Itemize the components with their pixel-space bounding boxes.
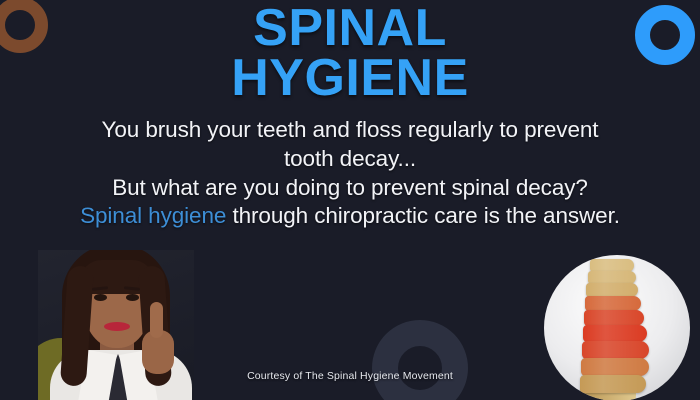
vertebra-segment (584, 310, 644, 326)
body-line-3: But what are you doing to prevent spinal… (18, 174, 682, 203)
spinal-hygiene-poster: SPINAL HYGIENE You brush your teeth and … (0, 0, 700, 400)
vertebra-segment (583, 325, 647, 342)
vertebra-segment (582, 341, 649, 359)
eye-left (94, 294, 107, 301)
body-accent-phrase: Spinal hygiene (80, 203, 226, 228)
body-line-1: You brush your teeth and floss regularly… (18, 116, 682, 145)
pointing-finger-shape (150, 302, 163, 338)
lips-shape (104, 322, 130, 331)
eye-right (126, 294, 139, 301)
poster-title: SPINAL HYGIENE (0, 4, 700, 104)
courtesy-caption: Courtesy of The Spinal Hygiene Movement (0, 370, 700, 382)
body-line-2: tooth decay... (18, 145, 682, 174)
poster-body-copy: You brush your teeth and floss regularly… (18, 116, 682, 231)
title-line-2: HYGIENE (0, 54, 700, 104)
vertebra-segment (585, 296, 641, 311)
decorative-ring-gray-icon (372, 320, 468, 400)
body-line-4: Spinal hygiene through chiropractic care… (18, 202, 682, 231)
body-line-4-rest: through chiropractic care is the answer. (226, 203, 620, 228)
vertebra-segment (586, 283, 638, 297)
title-line-1: SPINAL (0, 4, 700, 54)
